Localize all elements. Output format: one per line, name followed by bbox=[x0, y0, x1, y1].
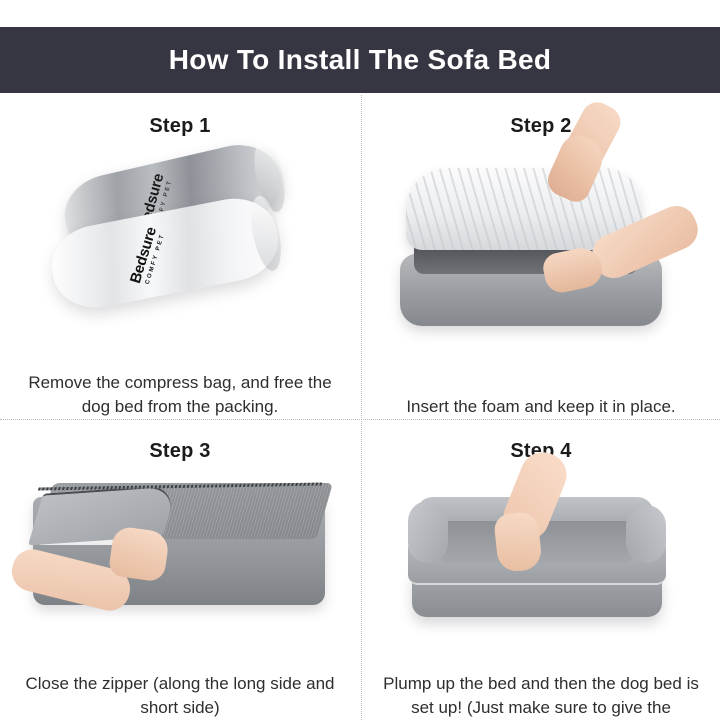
brand-mark-white: Bedsure COMFY PET bbox=[128, 225, 167, 287]
step-image-4 bbox=[376, 467, 706, 672]
step-label-2: Step 2 bbox=[510, 116, 571, 136]
step-caption-2: Insert the foam and keep it in place. bbox=[376, 395, 706, 419]
step-label-3: Step 3 bbox=[149, 441, 210, 461]
hand-plumping-bed bbox=[493, 511, 543, 573]
step-image-3 bbox=[15, 467, 345, 672]
step-image-1: Bedsure COMFY PET Bedsure COMFY PET bbox=[15, 142, 345, 369]
step-card-1: Step 1 Bedsure COMFY PET Bedsure COMFY P… bbox=[0, 95, 360, 419]
header-banner: How To Install The Sofa Bed bbox=[0, 27, 720, 93]
step-card-4: Step 4 Plump up the bed and then the dog… bbox=[361, 420, 720, 720]
bolster-right bbox=[626, 505, 666, 563]
step-card-2: Step 2 Insert the foam and keep it in pl… bbox=[361, 95, 720, 419]
step-caption-3: Close the zipper (along the long side an… bbox=[15, 672, 345, 720]
step-label-1: Step 1 bbox=[149, 116, 210, 136]
step-image-2 bbox=[376, 142, 706, 393]
infographic-page: How To Install The Sofa Bed Step 1 Bedsu… bbox=[0, 0, 720, 720]
page-title: How To Install The Sofa Bed bbox=[169, 46, 552, 74]
step-card-3: Step 3 Close the zipper (along the long … bbox=[0, 420, 360, 720]
step-caption-1: Remove the compress bag, and free the do… bbox=[15, 371, 345, 419]
brand-subtitle: COMFY PET bbox=[144, 230, 167, 287]
step-caption-4: Plump up the bed and then the dog bed is… bbox=[376, 672, 706, 720]
brand-name: Bedsure bbox=[128, 225, 159, 285]
bolster-left bbox=[408, 501, 448, 563]
